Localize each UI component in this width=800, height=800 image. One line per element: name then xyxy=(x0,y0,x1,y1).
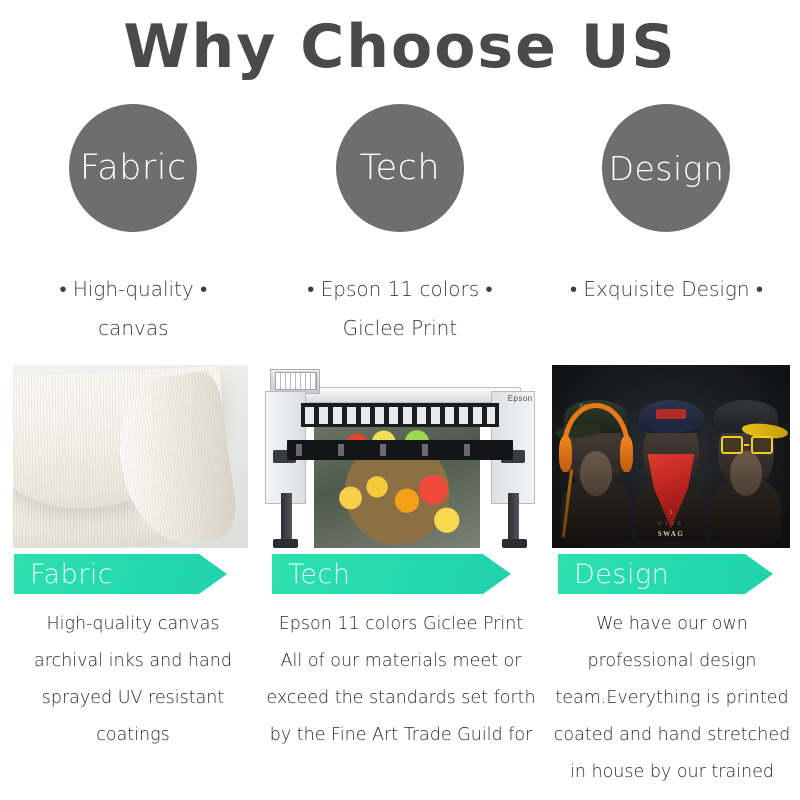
feature-column-fabric: Fabric • High-quality • canvas xyxy=(0,104,267,348)
chimp-muzzle xyxy=(580,451,612,496)
artwork-caption-swag: SWAG xyxy=(552,531,790,539)
photo-design-artwork: SWAG 3 WISE xyxy=(552,365,790,548)
chimp-muzzle xyxy=(730,451,762,496)
printer-foot-right xyxy=(502,539,527,548)
photo-canvas-fabric xyxy=(13,365,248,548)
badge-circle-tech: Tech xyxy=(336,104,464,232)
tagline-design: • Exquisite Design • xyxy=(570,270,763,309)
badge-circle-fabric: Fabric xyxy=(69,104,197,232)
printer-brand-label: Epson xyxy=(508,394,533,403)
banner-label-fabric: Fabric xyxy=(14,561,113,588)
sunglasses-lens-left xyxy=(721,436,743,454)
body-text-tech: Epson 11 colors Giclee Print All of our … xyxy=(262,606,540,754)
artwork-chimp-sunglasses xyxy=(709,391,783,541)
printer-upper-rail xyxy=(301,403,500,427)
chimp-cap-stripe xyxy=(656,409,686,420)
badge-label-tech: Tech xyxy=(360,148,440,188)
headphone-cup-right xyxy=(620,436,633,472)
artwork-chimp-bandana xyxy=(634,391,708,541)
printer-output-citrus-print xyxy=(314,409,480,548)
badge-label-fabric: Fabric xyxy=(80,148,187,188)
tagline-tech: • Epson 11 colors • Giclee Print xyxy=(307,270,492,348)
why-choose-us-infographic: Why Choose US Fabric • High-quality • ca… xyxy=(0,0,800,800)
banner-label-design: Design xyxy=(558,561,669,588)
artwork-caption-wise: WISE xyxy=(552,522,790,528)
feature-columns: Fabric • High-quality • canvas Tech • Ep… xyxy=(0,104,800,348)
badge-label-design: Design xyxy=(609,149,725,188)
banner-tech: Tech xyxy=(272,554,511,594)
yellow-sunglasses-icon xyxy=(721,436,773,454)
banner-fabric: Fabric xyxy=(14,554,227,594)
sunglasses-bridge xyxy=(744,444,749,446)
printer-foot-left xyxy=(273,539,298,548)
headphone-cup-left xyxy=(559,436,572,472)
page-title: Why Choose US xyxy=(0,14,800,80)
banner-label-tech: Tech xyxy=(272,561,350,588)
chimp-cap-brim xyxy=(647,421,693,433)
artwork-caption-number: 3 xyxy=(552,510,790,517)
feature-column-design: Design • Exquisite Design • xyxy=(533,104,800,348)
printer-carriage-rail xyxy=(287,440,513,460)
badge-circle-design: Design xyxy=(602,104,730,232)
artwork-chimp-headphones: SWAG xyxy=(559,391,633,541)
body-text-design: We have our own professional design team… xyxy=(548,606,796,791)
photo-epson-printer: Epson xyxy=(262,365,538,548)
sunglasses-lens-right xyxy=(751,436,773,454)
feature-column-tech: Tech • Epson 11 colors • Giclee Print xyxy=(267,104,534,348)
body-text-fabric: High-quality canvas archival inks and ha… xyxy=(8,606,258,754)
banner-design: Design xyxy=(558,554,773,594)
tagline-fabric: • High-quality • canvas xyxy=(59,270,207,348)
